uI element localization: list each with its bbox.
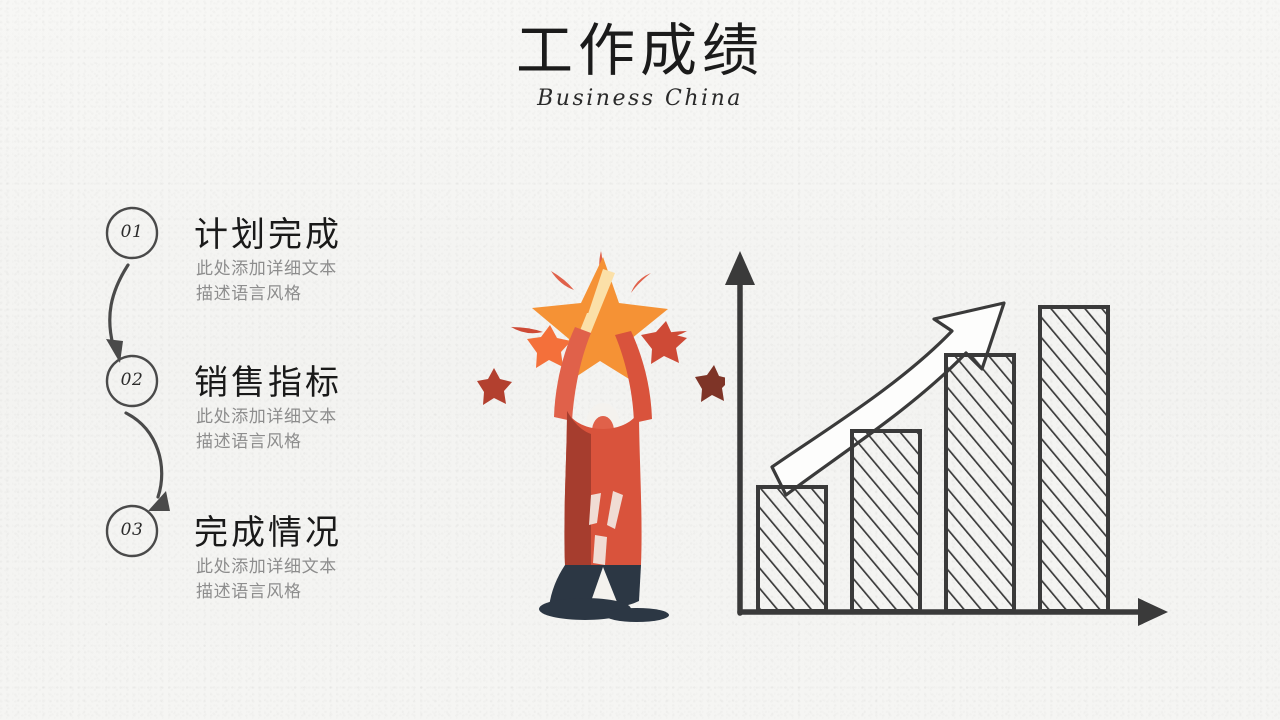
agenda-number-circle-02: 02 [104, 353, 160, 409]
star-far-left-icon [477, 368, 512, 405]
star-right-icon [641, 321, 687, 364]
agenda-number-label: 03 [104, 503, 160, 559]
agenda-body-line2: 描述语言风格 [196, 282, 337, 307]
y-axis [725, 251, 755, 613]
bar-2 [852, 431, 920, 611]
agenda-body-line1: 此处添加详细文本 [196, 555, 337, 580]
y-axis-arrowhead [725, 251, 755, 285]
agenda-heading: 完成情况 [194, 505, 342, 554]
agenda-body-line1: 此处添加详细文本 [196, 257, 337, 282]
figure-torso-shade [564, 411, 591, 565]
connector-arrow-2-path [126, 413, 162, 497]
slide-canvas: 工作成绩 Business China 01 [0, 0, 1280, 720]
figure-shadow-2 [605, 608, 669, 622]
agenda-body: 此处添加详细文本 描述语言风格 [196, 257, 337, 306]
agenda-list: 01 计划完成 此处添加详细文本 描述语言风格 02 销售指标 此处添加详细文本… [96, 205, 426, 655]
bar-chart [700, 195, 1200, 645]
agenda-number-label: 02 [104, 353, 160, 409]
title-block: 工作成绩 Business China [0, 22, 1280, 111]
figure-arm-right [615, 331, 652, 423]
page-subtitle: Business China [0, 86, 1280, 111]
bar-4 [1040, 307, 1108, 611]
bar-1 [758, 487, 826, 611]
celebration-illustration [455, 235, 725, 635]
agenda-body: 此处添加详细文本 描述语言风格 [196, 405, 337, 454]
page-title: 工作成绩 [0, 22, 1280, 82]
agenda-number-circle-01: 01 [104, 205, 160, 261]
agenda-body-line2: 描述语言风格 [196, 430, 337, 455]
agenda-body-line1: 此处添加详细文本 [196, 405, 337, 430]
agenda-body-line2: 描述语言风格 [196, 580, 337, 605]
agenda-body: 此处添加详细文本 描述语言风格 [196, 555, 337, 604]
agenda-number-label: 01 [104, 205, 160, 261]
figure-fold-3 [593, 535, 607, 565]
main-star-icon [532, 257, 668, 388]
bar-3 [946, 355, 1014, 611]
connector-arrow-1-path [110, 265, 128, 345]
agenda-number-circle-03: 03 [104, 503, 160, 559]
x-axis-arrowhead [1138, 598, 1168, 626]
agenda-heading: 销售指标 [194, 355, 342, 404]
agenda-heading: 计划完成 [194, 207, 342, 256]
